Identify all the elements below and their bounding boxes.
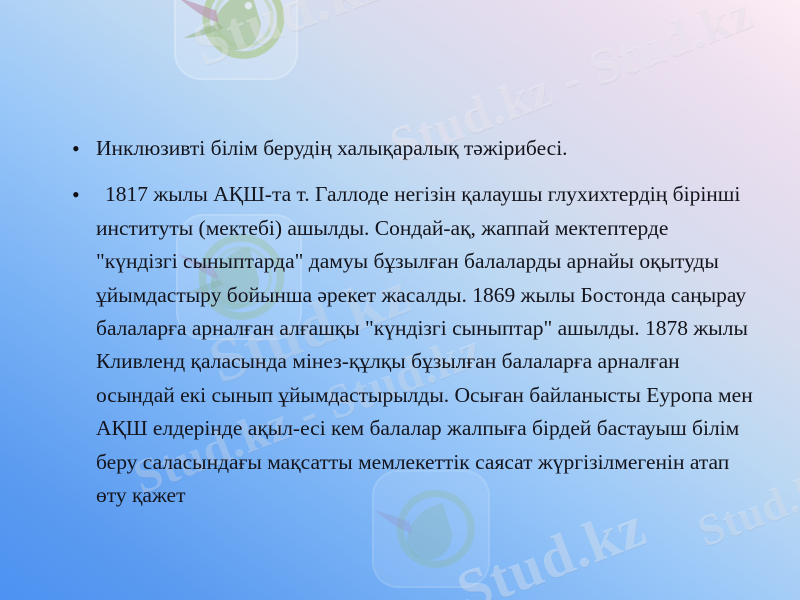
bullet-marker-icon: • — [64, 132, 96, 165]
bullet-text: Инклюзивті білім берудің халықаралық тәж… — [96, 132, 754, 165]
bullet-marker-icon: • — [64, 178, 96, 211]
bullet-item: • 1817 жылы АҚШ-та т. Галлоде негізін қа… — [64, 178, 754, 512]
hummingbird-logo-icon — [174, 0, 298, 80]
watermark-text: Stud.kz — [184, 0, 397, 81]
bullet-item: • Инклюзивті білім берудің халықаралық т… — [64, 132, 754, 165]
slide-body: • Инклюзивті білім берудің халықаралық т… — [64, 132, 754, 512]
bullet-text: 1817 жылы АҚШ-та т. Галлоде негізін қала… — [96, 178, 754, 512]
presentation-slide: Stud.kz Stud.kz - Stud.kz Stud.kz Stud.k… — [0, 0, 800, 600]
